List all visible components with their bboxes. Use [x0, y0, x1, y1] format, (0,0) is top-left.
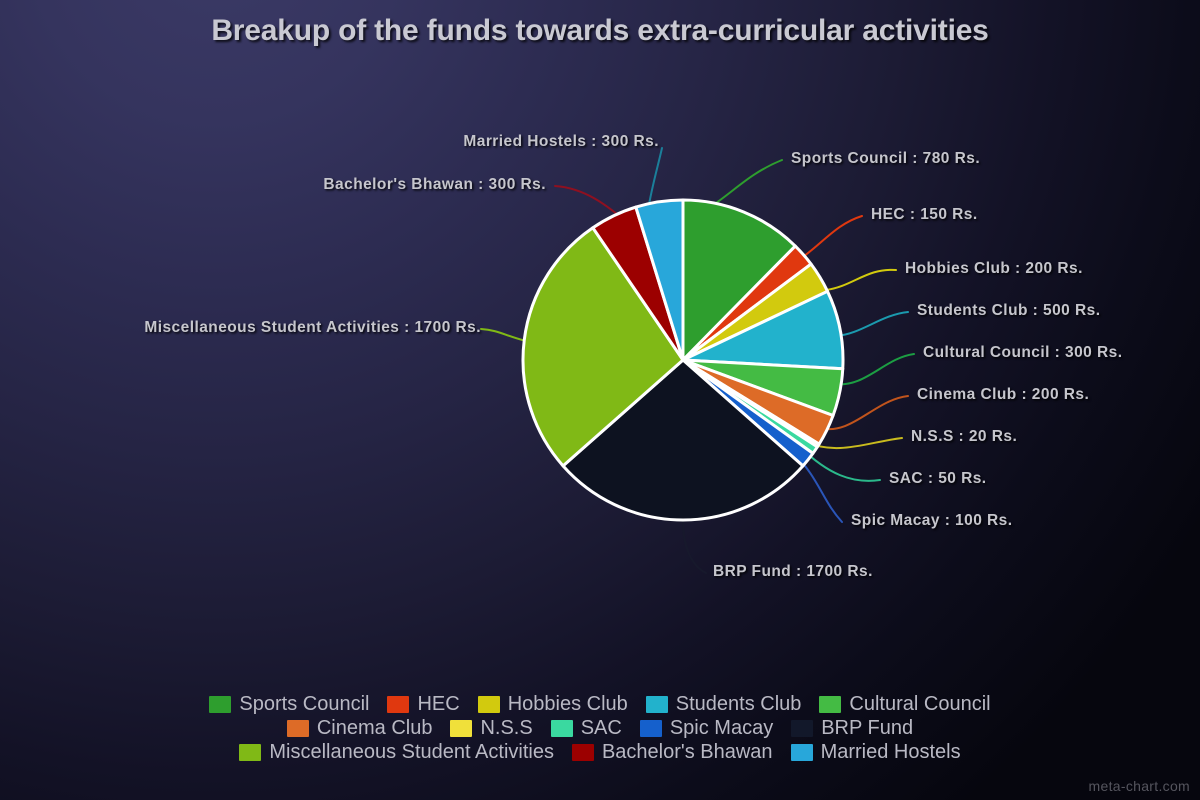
legend-label-bachelor-s-bhawan: Bachelor's Bhawan [602, 742, 773, 762]
leader-line-cultural-council [834, 354, 914, 384]
pie-slice-group [523, 200, 843, 520]
legend-item-bachelor-s-bhawan[interactable]: Bachelor's Bhawan [572, 742, 773, 762]
leader-line-hobbies-club [826, 270, 896, 290]
legend-swatch-sports-council [209, 696, 231, 713]
legend-item-brp-fund[interactable]: BRP Fund [791, 718, 913, 738]
legend-label-hec: HEC [417, 694, 459, 714]
watermark: meta-chart.com [1089, 778, 1190, 794]
legend-row-3: Miscellaneous Student ActivitiesBachelor… [239, 742, 960, 762]
chart-container: Breakup of the funds towards extra-curri… [0, 0, 1200, 800]
legend-swatch-cultural-council [819, 696, 841, 713]
slice-label-students-club: Students Club : 500 Rs. [917, 302, 1100, 320]
legend-item-students-club[interactable]: Students Club [646, 694, 802, 714]
slice-label-spic-macay: Spic Macay : 100 Rs. [851, 512, 1013, 530]
legend: Sports CouncilHECHobbies ClubStudents Cl… [0, 694, 1200, 762]
legend-swatch-hec [387, 696, 409, 713]
leader-line-misc-student-activities [481, 329, 526, 341]
legend-row-1: Sports CouncilHECHobbies ClubStudents Cl… [209, 694, 990, 714]
legend-swatch-bachelor-s-bhawan [572, 744, 594, 761]
legend-label-cinema-club: Cinema Club [317, 718, 433, 738]
legend-swatch-sac [551, 720, 573, 737]
legend-swatch-married-hostels [791, 744, 813, 761]
legend-label-miscellaneous-student-activities: Miscellaneous Student Activities [269, 742, 554, 762]
legend-item-married-hostels[interactable]: Married Hostels [791, 742, 961, 762]
legend-row-2: Cinema ClubN.S.SSACSpic MacayBRP Fund [287, 718, 913, 738]
legend-label-spic-macay: Spic Macay [670, 718, 773, 738]
leader-line-hec [800, 216, 862, 259]
legend-item-sac[interactable]: SAC [551, 718, 622, 738]
legend-label-hobbies-club: Hobbies Club [508, 694, 628, 714]
leader-line-students-club [836, 312, 908, 336]
slice-label-married-hostels: Married Hostels : 300 Rs. [463, 133, 659, 151]
legend-label-n-s-s: N.S.S [480, 718, 532, 738]
legend-label-sac: SAC [581, 718, 622, 738]
legend-label-cultural-council: Cultural Council [849, 694, 990, 714]
leader-line-sports-council [716, 160, 782, 203]
slice-label-sac: SAC : 50 Rs. [889, 470, 987, 488]
legend-swatch-n-s-s [450, 720, 472, 737]
legend-swatch-cinema-club [287, 720, 309, 737]
leader-line-brp-fund [683, 521, 706, 573]
slice-label-hobbies-club: Hobbies Club : 200 Rs. [905, 260, 1083, 278]
legend-swatch-brp-fund [791, 720, 813, 737]
slice-label-sports-council: Sports Council : 780 Rs. [791, 150, 980, 168]
legend-item-cultural-council[interactable]: Cultural Council [819, 694, 990, 714]
legend-label-brp-fund: BRP Fund [821, 718, 913, 738]
slice-label-nss: N.S.S : 20 Rs. [911, 428, 1017, 446]
legend-item-miscellaneous-student-activities[interactable]: Miscellaneous Student Activities [239, 742, 554, 762]
legend-item-cinema-club[interactable]: Cinema Club [287, 718, 433, 738]
legend-label-sports-council: Sports Council [239, 694, 369, 714]
legend-swatch-spic-macay [640, 720, 662, 737]
legend-item-n-s-s[interactable]: N.S.S [450, 718, 532, 738]
slice-label-bachelors-bhawan: Bachelor's Bhawan : 300 Rs. [323, 176, 546, 194]
slice-label-cultural-council: Cultural Council : 300 Rs. [923, 344, 1122, 362]
slice-label-misc-student-activities: Miscellaneous Student Activities : 1700 … [144, 319, 481, 337]
legend-label-students-club: Students Club [676, 694, 802, 714]
slice-label-cinema-club: Cinema Club : 200 Rs. [917, 386, 1089, 404]
slice-label-hec: HEC : 150 Rs. [871, 206, 978, 224]
legend-item-spic-macay[interactable]: Spic Macay [640, 718, 773, 738]
legend-swatch-miscellaneous-student-activities [239, 744, 261, 761]
legend-item-hec[interactable]: HEC [387, 694, 459, 714]
slice-label-brp-fund: BRP Fund : 1700 Rs. [713, 563, 873, 581]
legend-swatch-students-club [646, 696, 668, 713]
legend-swatch-hobbies-club [478, 696, 500, 713]
legend-item-hobbies-club[interactable]: Hobbies Club [478, 694, 628, 714]
legend-item-sports-council[interactable]: Sports Council [209, 694, 369, 714]
legend-label-married-hostels: Married Hostels [821, 742, 961, 762]
